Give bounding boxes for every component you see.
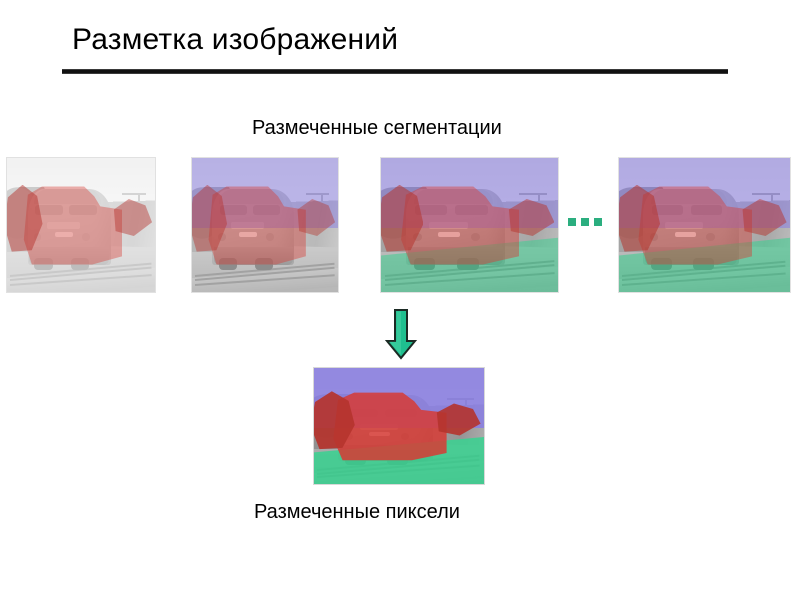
- brightness-wash: [381, 158, 558, 292]
- segmentation-thumbnail-3[interactable]: [381, 158, 558, 292]
- desaturate-layer: [314, 368, 484, 484]
- train-scene: [381, 158, 558, 292]
- brightness-wash: [192, 158, 338, 292]
- segmentation-thumbnail-2[interactable]: [192, 158, 338, 292]
- segmentation-thumbnail-1[interactable]: [7, 158, 155, 292]
- brightness-wash: [619, 158, 790, 292]
- segmentations-caption: Размеченные сегментации: [252, 117, 502, 140]
- ellipsis-dot: [581, 218, 589, 226]
- ellipsis-dot: [568, 218, 576, 226]
- ellipsis-icon: [568, 218, 602, 227]
- title-divider: [62, 69, 728, 74]
- brightness-wash: [7, 158, 155, 292]
- train-scene: [192, 158, 338, 292]
- ellipsis-dot: [594, 218, 602, 226]
- segmentation-thumbnail-4[interactable]: [619, 158, 790, 292]
- page-title: Разметка изображений: [72, 23, 398, 57]
- train-scene: [619, 158, 790, 292]
- result-image[interactable]: [314, 368, 484, 484]
- train-scene: [7, 158, 155, 292]
- down-arrow-icon: [382, 308, 420, 360]
- result-caption: Размеченные пиксели: [254, 501, 460, 524]
- train-scene: [314, 368, 484, 484]
